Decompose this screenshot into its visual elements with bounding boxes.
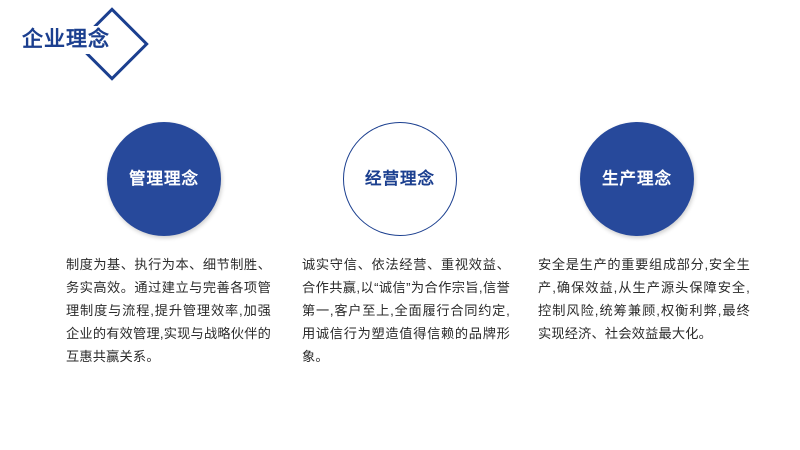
circle-container: 经营理念	[283, 120, 523, 240]
circle-badge-operation[interactable]: 经营理念	[343, 122, 457, 236]
body-text-operation: 诚实守信、依法经营、重视效益、合作共赢,以“诚信”为合作宗旨,信誉第一,客户至上…	[302, 253, 510, 368]
slide-canvas: 企业理念 管理理念 制度为基、执行为本、细节制胜、务实高效。通过建立与完善各项管…	[0, 0, 800, 450]
body-text-production: 安全是生产的重要组成部分,安全生产,确保效益,从生产源头保障安全,控制风险,统筹…	[538, 253, 750, 345]
circle-label-operation: 经营理念	[365, 171, 435, 188]
circle-badge-production[interactable]: 生产理念	[580, 122, 694, 236]
philosophy-columns: 管理理念 制度为基、执行为本、细节制胜、务实高效。通过建立与完善各项管理制度与流…	[0, 0, 800, 450]
circle-label-production: 生产理念	[602, 171, 672, 188]
circle-container: 管理理念	[46, 120, 286, 240]
circle-container: 生产理念	[518, 120, 758, 240]
page-title: 企业理念	[22, 26, 113, 54]
body-text-management: 制度为基、执行为本、细节制胜、务实高效。通过建立与完善各项管理制度与流程,提升管…	[66, 253, 271, 368]
philosophy-column-management: 管理理念 制度为基、执行为本、细节制胜、务实高效。通过建立与完善各项管理制度与流…	[46, 120, 286, 240]
circle-label-management: 管理理念	[129, 171, 199, 188]
philosophy-column-operation: 经营理念 诚实守信、依法经营、重视效益、合作共赢,以“诚信”为合作宗旨,信誉第一…	[283, 120, 523, 240]
philosophy-column-production: 生产理念 安全是生产的重要组成部分,安全生产,确保效益,从生产源头保障安全,控制…	[518, 120, 758, 240]
circle-badge-management[interactable]: 管理理念	[107, 122, 221, 236]
